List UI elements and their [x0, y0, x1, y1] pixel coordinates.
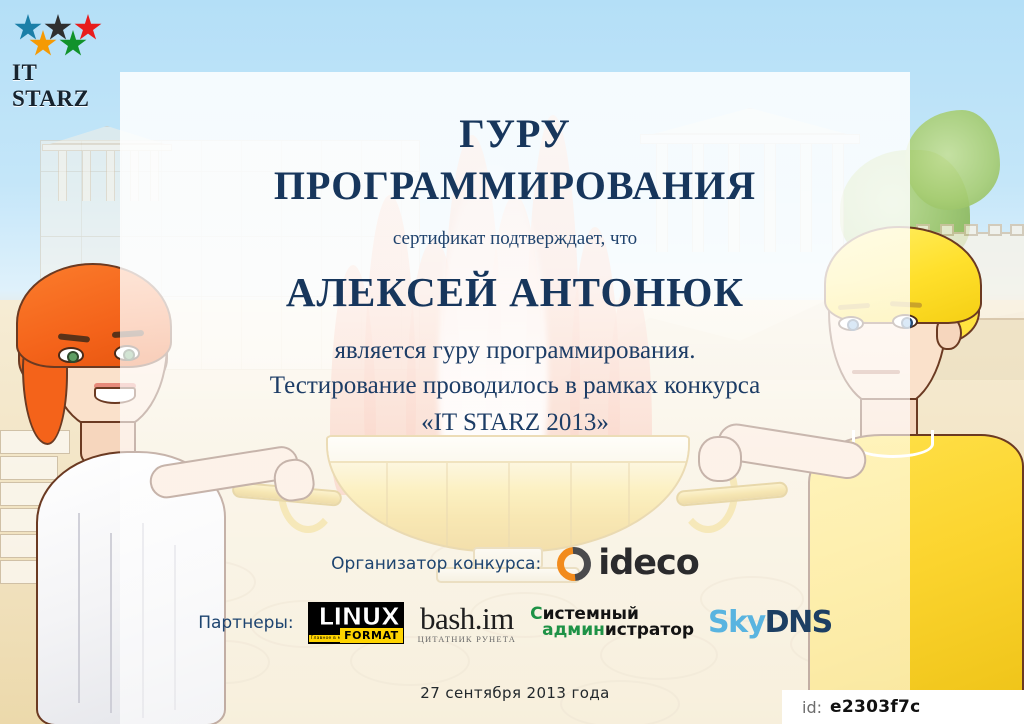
logo-stars: [12, 14, 120, 58]
skydns-dns: DNS: [765, 605, 832, 640]
partner-logo-linux-format[interactable]: LINUX Главное в мире Linux FORMAT: [308, 602, 404, 644]
logo-wordmark: IT STARZ: [12, 60, 120, 112]
star-icon-dark: [44, 14, 72, 42]
id-value: e2303f7c: [830, 697, 921, 717]
star-icon-blue: [14, 14, 42, 42]
it-starz-logo: IT STARZ: [12, 14, 120, 92]
bush-icon: [905, 110, 1000, 210]
certificate-body-line2: Тестирование проводилось в рамках конкур…: [120, 372, 910, 400]
partner-logo-sistemnyi-administrator[interactable]: Системный администратор: [530, 607, 694, 639]
ideco-swirl-icon: [550, 540, 598, 588]
ideco-wordmark: ideco: [598, 546, 699, 581]
sysadmin-line2: администратор: [530, 623, 694, 639]
bash-im-wordmark: bash.im: [418, 603, 516, 634]
partner-logo-skydns[interactable]: SkyDNS: [708, 608, 832, 638]
partners-label: Партнеры:: [198, 613, 293, 633]
organizer-row: Организатор конкурса: ideco: [120, 546, 910, 581]
partners-row: Партнеры: LINUX Главное в мире Linux FOR…: [120, 602, 910, 644]
star-icon-red: [74, 14, 102, 42]
id-label: id:: [802, 698, 822, 717]
sysadmin-line2-rest: истратор: [605, 620, 694, 640]
recipient-name: АЛЕКСЕЙ АНТОНЮК: [120, 268, 910, 316]
linux-format-badge: FORMAT: [340, 628, 402, 643]
bash-im-tagline: ЦИТАТНИК РУНЕТА: [418, 635, 516, 644]
certificate-title-line2: ПРОГРАММИРОВАНИЯ: [120, 162, 910, 209]
sysadmin-line1-accent: С: [530, 604, 542, 624]
certificate-content: ГУРУ ПРОГРАММИРОВАНИЯ сертификат подтвер…: [120, 72, 910, 724]
sysadmin-line2-accent: админ: [542, 620, 605, 640]
ideco-logo[interactable]: ideco: [557, 546, 699, 581]
id-badge: id: e2303f7c: [782, 690, 1024, 724]
linux-format-word: LINUX: [313, 602, 404, 631]
skydns-sky: Sky: [708, 605, 765, 640]
certificate-title-line1: ГУРУ: [120, 110, 910, 157]
certificate-confirms-text: сертификат подтверждает, что: [120, 228, 910, 250]
partner-logo-bash-im[interactable]: bash.im ЦИТАТНИК РУНЕТА: [418, 603, 516, 644]
organizer-label: Организатор конкурса:: [331, 554, 541, 574]
certificate-body-line1: является гуру программирования.: [120, 337, 910, 365]
certificate-body-line3: «IT STARZ 2013»: [120, 409, 910, 437]
